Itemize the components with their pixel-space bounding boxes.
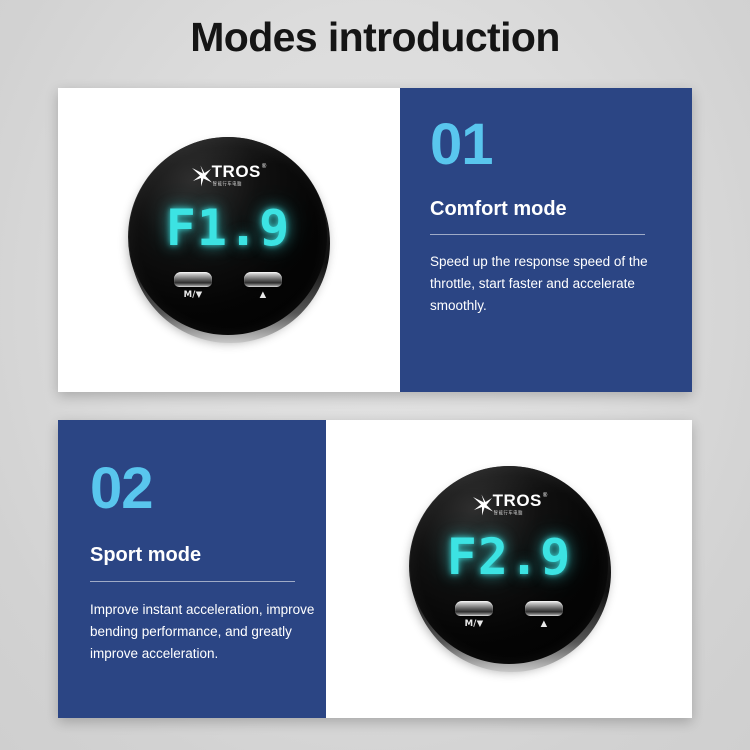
device-image-pane-1: TROS 智能行车电脑 ® F1.9 M/▼ ▲ <box>58 88 400 392</box>
device-brand-name: TROS <box>212 163 261 180</box>
device-brand-registered-mark: ® <box>543 493 547 499</box>
mode-text-pane-2: 02 Sport mode Improve instant accelerati… <box>58 420 326 718</box>
device-brand-registered-mark: ® <box>262 164 266 170</box>
star-icon <box>190 164 214 188</box>
device-button-row-2: M/▼ ▲ <box>410 601 608 629</box>
device-face: TROS 智能行车电脑 ® F2.9 M/▼ ▲ <box>410 466 608 664</box>
device-brand-logo: TROS 智能行车电脑 ® <box>410 492 608 517</box>
star-icon <box>471 493 495 517</box>
mode-number-1: 01 <box>430 116 666 174</box>
device-display-1: F1.9 <box>129 199 327 257</box>
throttle-controller-device-2: TROS 智能行车电脑 ® F2.9 M/▼ ▲ <box>409 466 615 672</box>
device-mode-button-label: M/▼ <box>184 291 203 300</box>
mode-text-pane-1: 01 Comfort mode Speed up the response sp… <box>400 88 692 392</box>
device-brand-sub: 智能行车电脑 <box>494 512 523 517</box>
device-mode-button-cap[interactable] <box>174 272 212 287</box>
mode-divider-1 <box>430 234 645 235</box>
device-wordmark: TROS 智能行车电脑 <box>212 163 261 187</box>
device-face: TROS 智能行车电脑 ® F1.9 M/▼ ▲ <box>129 137 327 335</box>
mode-description-1: Speed up the response speed of the throt… <box>430 251 660 317</box>
device-brand-logo: TROS 智能行车电脑 ® <box>129 163 327 188</box>
device-brand-sub: 智能行车电脑 <box>213 183 242 188</box>
device-display-2: F2.9 <box>410 528 608 586</box>
throttle-controller-device-1: TROS 智能行车电脑 ® F1.9 M/▼ ▲ <box>128 137 334 343</box>
page-title: Modes introduction <box>0 14 750 61</box>
device-up-button-1[interactable]: ▲ <box>243 272 283 300</box>
device-up-button-label: ▲ <box>260 291 267 300</box>
mode-title-2: Sport mode <box>90 544 304 567</box>
device-mode-button-label: M/▼ <box>465 620 484 629</box>
mode-number-2: 02 <box>90 460 304 518</box>
mode-description-2: Improve instant acceleration, improve be… <box>90 599 322 665</box>
device-mode-button-2[interactable]: M/▼ <box>454 601 494 629</box>
mode-card-sport: 02 Sport mode Improve instant accelerati… <box>58 420 692 718</box>
mode-divider-2 <box>90 581 295 582</box>
mode-card-comfort: TROS 智能行车电脑 ® F1.9 M/▼ ▲ <box>58 88 692 392</box>
device-image-pane-2: TROS 智能行车电脑 ® F2.9 M/▼ ▲ <box>326 420 692 718</box>
device-wordmark: TROS 智能行车电脑 <box>493 492 542 516</box>
device-mode-button-cap[interactable] <box>455 601 493 616</box>
device-brand-name: TROS <box>493 492 542 509</box>
mode-title-1: Comfort mode <box>430 198 666 221</box>
device-mode-button-1[interactable]: M/▼ <box>173 272 213 300</box>
device-up-button-cap[interactable] <box>244 272 282 287</box>
device-up-button-cap[interactable] <box>525 601 563 616</box>
device-up-button-2[interactable]: ▲ <box>524 601 564 629</box>
device-button-row-1: M/▼ ▲ <box>129 272 327 300</box>
device-up-button-label: ▲ <box>541 620 548 629</box>
